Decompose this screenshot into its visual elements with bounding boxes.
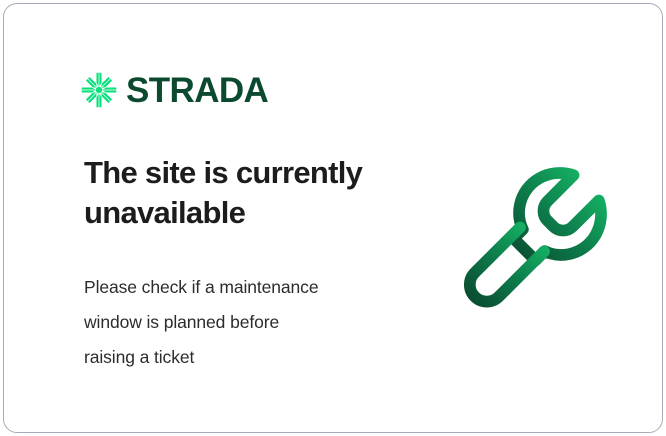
error-page-screen: STRADA The site is currently unavailable… bbox=[0, 0, 666, 436]
description-line: window is planned before bbox=[84, 305, 404, 340]
description-line: Please check if a maintenance bbox=[84, 270, 404, 305]
page-title: The site is currently unavailable bbox=[84, 153, 414, 232]
maintenance-card: STRADA The site is currently unavailable… bbox=[3, 3, 663, 433]
page-description: Please check if a maintenance window is … bbox=[84, 270, 404, 375]
brand-wordmark: STRADA bbox=[126, 73, 268, 108]
description-line: raising a ticket bbox=[84, 340, 404, 375]
wrench-icon bbox=[459, 157, 617, 315]
asterisk-star-icon bbox=[81, 72, 117, 108]
brand-logo: STRADA bbox=[81, 72, 268, 108]
